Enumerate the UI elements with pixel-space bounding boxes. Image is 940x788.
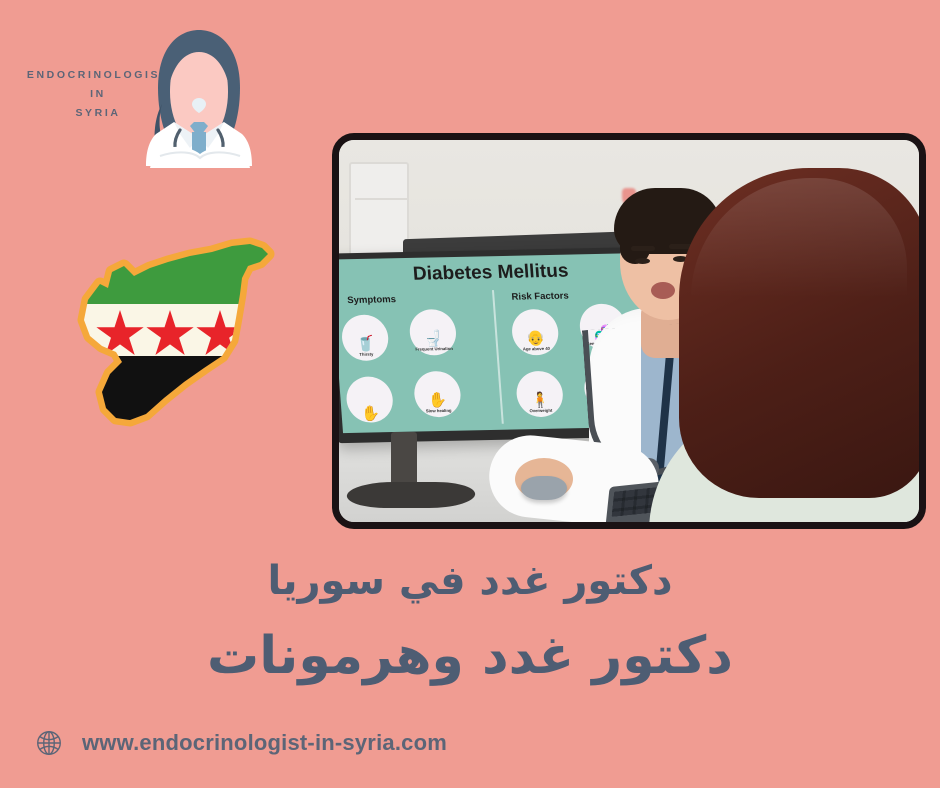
screen-divider xyxy=(492,290,504,424)
elderly-face-icon: 👴 xyxy=(526,331,546,346)
computer-mouse xyxy=(521,476,567,500)
screen-title: Diabetes Mellitus xyxy=(339,259,651,288)
symptom-label: Frequent Urination xyxy=(415,347,453,355)
symptom-bubble-urination: 🚽 Frequent Urination xyxy=(408,309,457,356)
heading-line-2: دكتور غدد وهرمونات xyxy=(0,626,940,686)
globe-icon xyxy=(34,728,64,758)
overweight-person-icon: 🧍 xyxy=(530,393,550,408)
screen-column-symptoms: Symptoms xyxy=(347,294,396,306)
female-doctor-hijab-illustration xyxy=(140,26,258,168)
clinic-photo: Diabetes Mellitus Symptoms Risk Factors … xyxy=(332,133,926,529)
risk-bubble-age: 👴 Age above 40 xyxy=(510,309,559,356)
syria-map-flag xyxy=(72,222,284,434)
brand-block: ENDOCRINOLOGIST IN SYRIA xyxy=(0,14,300,164)
hand-icon: ✋ xyxy=(361,406,381,421)
risk-bubble-overweight: 🧍 Overweight xyxy=(515,371,564,418)
monitor-stand-base xyxy=(344,482,478,508)
risk-label: Overweight xyxy=(529,409,552,417)
footer: www.endocrinologist-in-syria.com xyxy=(34,728,447,758)
symptom-bubble-extra: ✋ xyxy=(345,376,394,423)
hand-icon: ✋ xyxy=(428,393,448,408)
screen-column-risk-factors: Risk Factors xyxy=(511,291,569,303)
thirsty-icon: 🥤 xyxy=(356,337,376,352)
symptom-bubble-thirsty: 🥤 Thirsty xyxy=(340,314,389,361)
doctor-mouth xyxy=(651,282,675,299)
doctor-eyebrow-left xyxy=(631,246,655,251)
risk-label: Age above 40 xyxy=(523,347,551,355)
heading-line-1: دكتور غدد في سوريا xyxy=(0,558,940,604)
doctor-eye-left xyxy=(635,258,650,264)
symptom-label: Thirsty xyxy=(359,353,374,361)
symptom-bubble-slow-healing: ✋ Slow healing xyxy=(413,371,462,418)
poster-canvas: ENDOCRINOLOGIST IN SYRIA xyxy=(0,0,940,788)
patient-hair xyxy=(679,168,919,498)
toilet-icon: 🚽 xyxy=(424,332,444,347)
symptom-label: Slow healing xyxy=(426,409,452,417)
website-url[interactable]: www.endocrinologist-in-syria.com xyxy=(82,730,447,756)
